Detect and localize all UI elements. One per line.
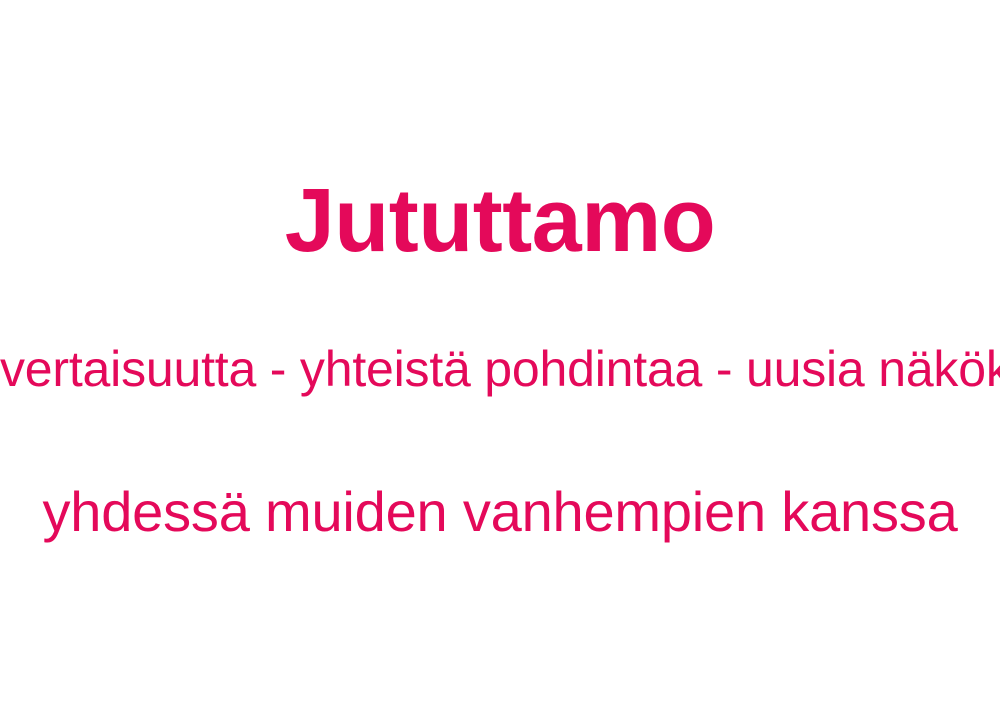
slide-subline: yhdessä muiden vanhempien kanssa [0, 484, 1000, 540]
title-slide: Jututtamo vertaisuutta - yhteistä pohdin… [0, 0, 1000, 709]
slide-tagline: vertaisuutta - yhteistä pohdintaa - uusi… [0, 344, 1000, 394]
slide-headline: Jututtamo [0, 176, 1000, 266]
slide-content-stack: Jututtamo vertaisuutta - yhteistä pohdin… [0, 0, 1000, 709]
